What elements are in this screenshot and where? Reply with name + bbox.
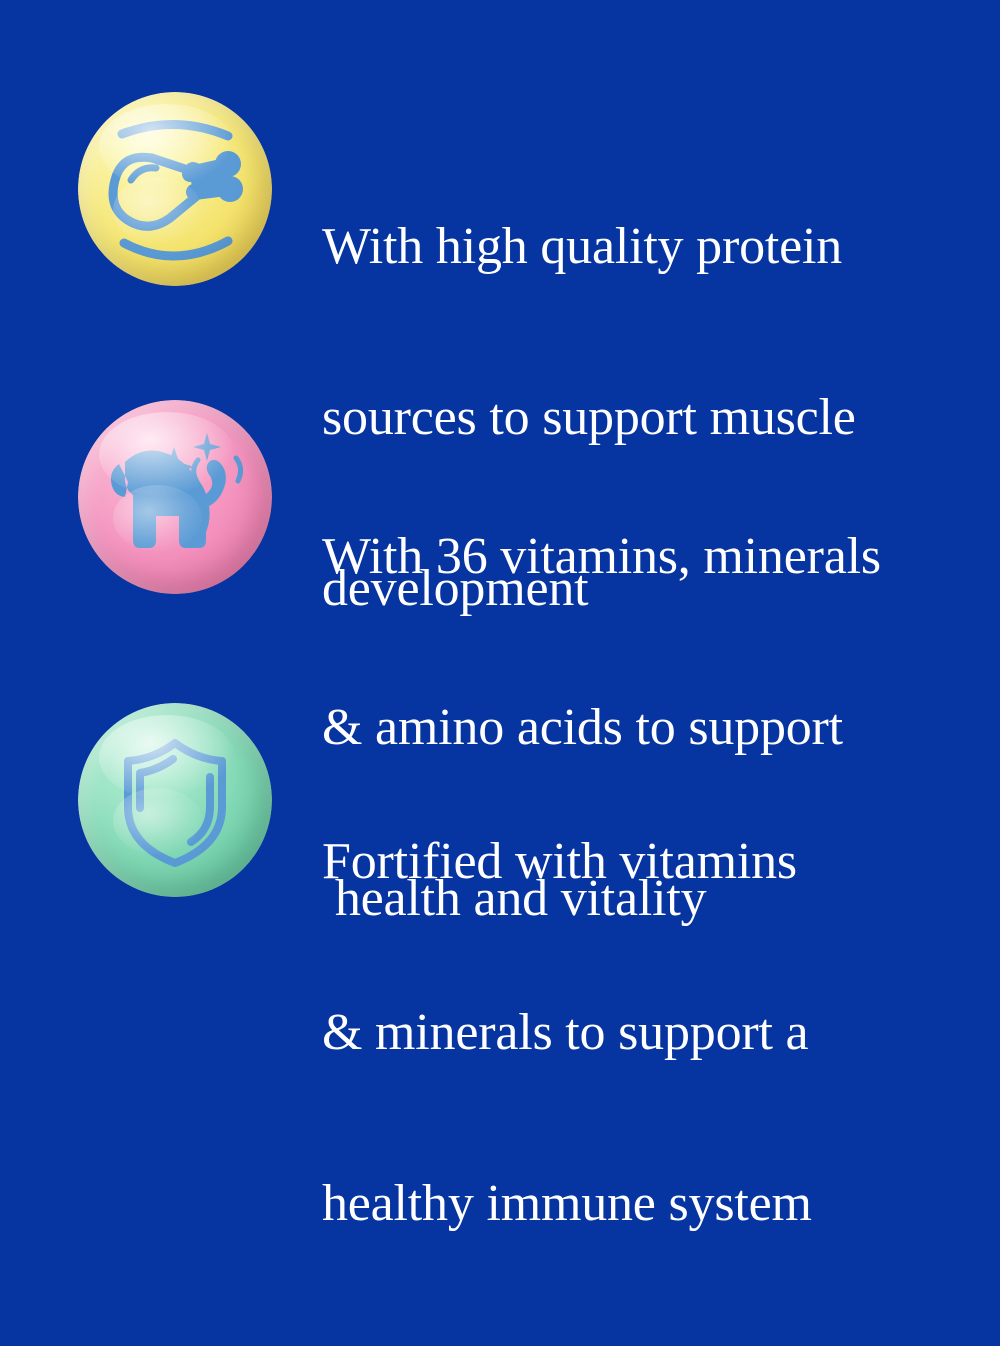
badge-shield [78,703,272,897]
feature-line: Fortified with vitamins [322,833,960,890]
feature-line: With high quality protein [322,218,960,275]
feature-text-immune: Fortified with vitamins & minerals to su… [322,719,1000,1346]
feature-row-immune: Fortified with vitamins & minerals to su… [0,703,1000,1346]
benefits-panel: With high quality protein sources to sup… [0,0,1000,1000]
drumstick-icon [78,92,272,286]
feature-line: healthy immune system [322,1175,960,1232]
feature-line: & minerals to support a [322,1004,960,1061]
feature-line: With 36 vitamins, minerals [322,528,960,585]
dog-icon [78,400,272,594]
shield-icon [78,703,272,897]
badge-drumstick [78,92,272,286]
badge-dog [78,400,272,594]
